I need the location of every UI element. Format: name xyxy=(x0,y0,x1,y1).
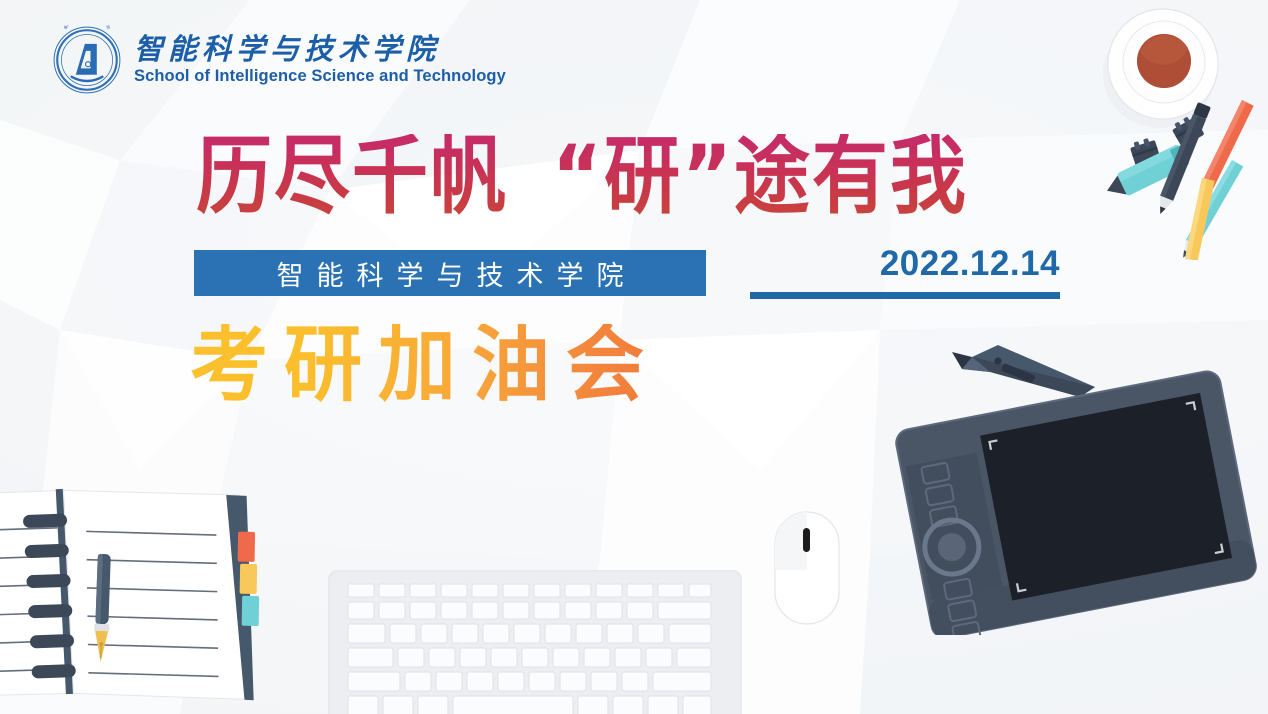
ai-circular-emblem-icon: 重庆邮电大学智能科学与技术学院 xyxy=(52,25,122,95)
spiral-notebook-icon xyxy=(0,440,293,714)
logo-institution-en: School of Intelligence Science and Techn… xyxy=(134,67,506,85)
event-date-underline xyxy=(750,292,1060,299)
computer-mouse-icon xyxy=(762,510,852,630)
event-subtitle: 考研加油会 xyxy=(190,324,660,407)
graphics-tablet-icon xyxy=(885,335,1265,635)
keyboard-icon xyxy=(320,560,750,714)
stylus-pen-icon xyxy=(952,345,1095,397)
page-title: 历尽千帆“研”途有我 xyxy=(196,134,968,219)
poster-canvas: 重庆邮电大学智能科学与技术学院 智能科学与技术学院 School of Inte… xyxy=(0,0,1268,714)
department-banner: 智能科学与技术学院 xyxy=(194,250,706,296)
department-banner-label: 智能科学与技术学院 xyxy=(264,254,637,293)
institution-logo-block: 重庆邮电大学智能科学与技术学院 智能科学与技术学院 School of Inte… xyxy=(52,25,506,95)
event-date: 2022.12.14 xyxy=(750,246,1060,283)
logo-institution-cn: 智能科学与技术学院 xyxy=(134,34,506,66)
event-date-block: 2022.12.14 xyxy=(750,246,1060,299)
page-title-part-1: 历尽千帆 xyxy=(196,126,508,226)
desk-stationery-group xyxy=(1090,60,1268,260)
page-title-part-2: “研”途有我 xyxy=(552,126,968,226)
